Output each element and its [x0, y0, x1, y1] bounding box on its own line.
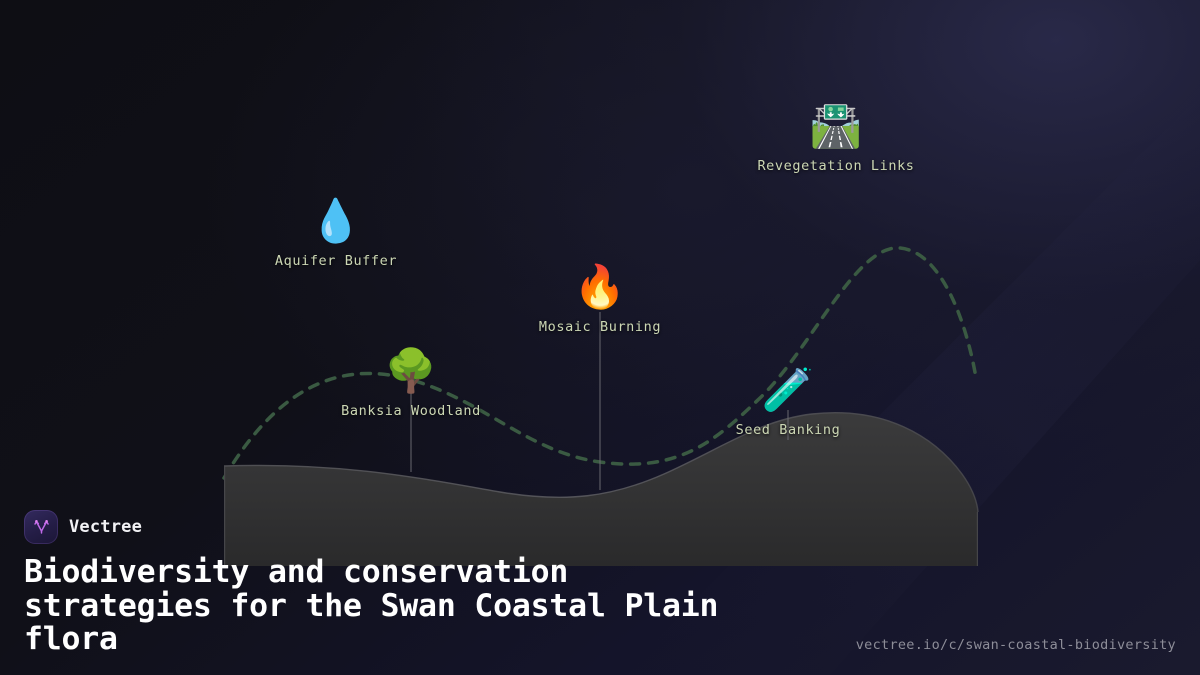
node-aquifer-buffer[interactable]: 💧Aquifer Buffer [216, 195, 456, 269]
vectree-v-tree-icon [24, 510, 58, 544]
node-label-revegetation-links: Revegetation Links [757, 158, 914, 174]
brand: Vectree [24, 510, 1176, 544]
node-label-banksia-woodland: Banksia Woodland [341, 403, 481, 419]
node-label-mosaic-burning: Mosaic Burning [539, 319, 661, 335]
node-banksia-woodland[interactable]: 🌳Banksia Woodland [291, 345, 531, 419]
test-tube-icon: 🧪 [762, 364, 814, 416]
node-seed-banking[interactable]: 🧪Seed Banking [668, 364, 908, 438]
motorway-icon: 🛣️ [810, 100, 862, 152]
share-url: vectree.io/c/swan-coastal-biodiversity [856, 637, 1176, 653]
brand-name: Vectree [69, 517, 142, 537]
node-mosaic-burning[interactable]: 🔥Mosaic Burning [480, 261, 720, 335]
droplet-icon: 💧 [310, 195, 362, 247]
share-card-canvas: 🛣️Revegetation Links💧Aquifer Buffer🔥Mosa… [0, 0, 1200, 675]
deciduous-tree-icon: 🌳 [385, 345, 437, 397]
node-revegetation-links[interactable]: 🛣️Revegetation Links [716, 100, 956, 174]
node-label-seed-banking: Seed Banking [736, 422, 841, 438]
fire-icon: 🔥 [574, 261, 626, 313]
node-label-aquifer-buffer: Aquifer Buffer [275, 253, 397, 269]
page-title: Biodiversity and conservation strategies… [24, 556, 854, 657]
